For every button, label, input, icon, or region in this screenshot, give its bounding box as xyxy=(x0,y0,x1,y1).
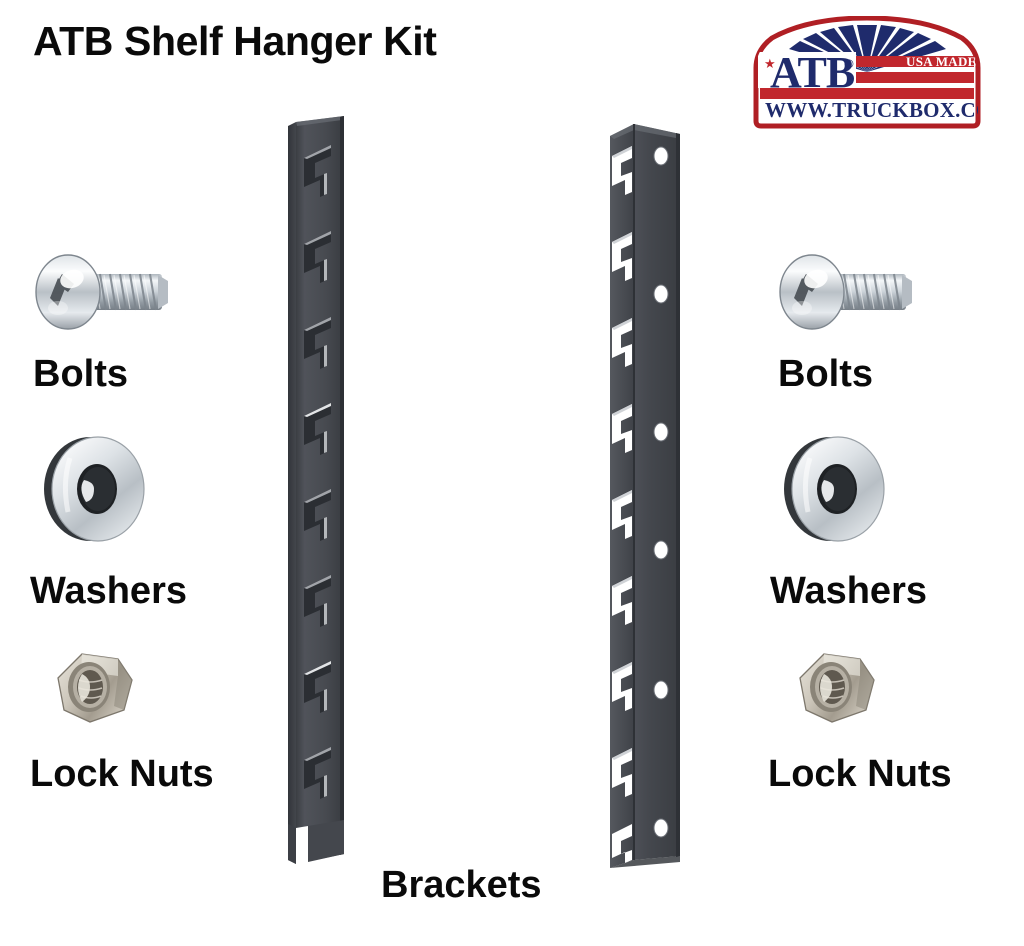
logo-usa-made-text: USA MADE xyxy=(906,54,977,69)
logo-brand-text: ATB xyxy=(770,48,855,97)
locknuts-right-label: Lock Nuts xyxy=(768,755,952,793)
bracket-right xyxy=(604,112,686,868)
product-image-canvas: ATB Shelf Hanger Kit xyxy=(0,0,1024,946)
bolts-left-label: Bolts xyxy=(33,355,128,393)
logo-registered-mark: ® xyxy=(844,56,854,71)
locknuts-left-label: Lock Nuts xyxy=(30,755,214,793)
lock-nut-icon xyxy=(790,650,890,728)
brackets-label: Brackets xyxy=(381,866,542,904)
bolt-icon xyxy=(772,248,932,340)
bolts-right-label: Bolts xyxy=(778,355,873,393)
atb-truckbox-logo: ★ ATB ® USA MADE WWW.TRUCKBOX.COM xyxy=(748,16,986,129)
lock-nut-icon xyxy=(48,650,148,728)
washer-icon xyxy=(36,432,156,546)
bolt-icon xyxy=(28,248,188,340)
page-title: ATB Shelf Hanger Kit xyxy=(33,18,437,65)
bracket-left xyxy=(286,112,352,868)
washers-left-label: Washers xyxy=(30,572,187,610)
logo-website-text: WWW.TRUCKBOX.COM xyxy=(765,98,986,122)
washers-right-label: Washers xyxy=(770,572,927,610)
washer-icon xyxy=(776,432,896,546)
